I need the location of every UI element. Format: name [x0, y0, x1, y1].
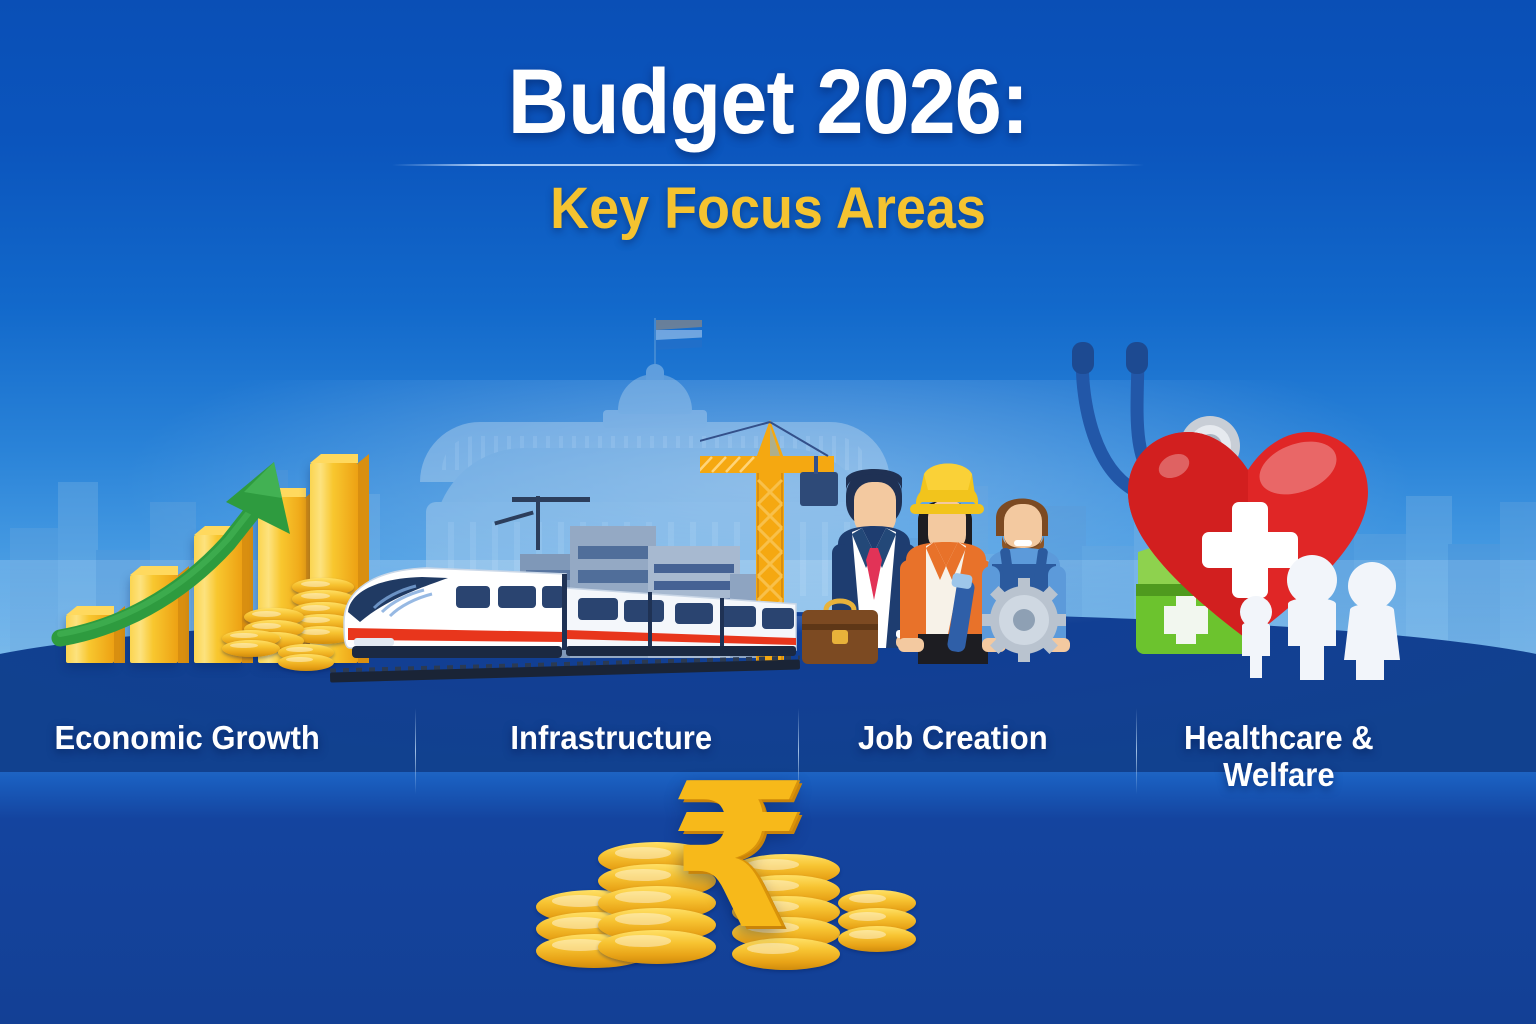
page-subtitle: Key Focus Areas — [54, 180, 1482, 238]
rupee-coins-icon: ₹ — [520, 762, 940, 994]
title-divider — [392, 164, 1144, 166]
budget-poster: Budget 2026: Key Focus Areas — [0, 0, 1536, 1024]
heart-cross-icon — [1060, 340, 1450, 680]
category-label-economic-growth[interactable]: Economic Growth — [54, 720, 319, 757]
page-title: Budget 2026: — [61, 56, 1474, 148]
label-divider — [1136, 708, 1137, 794]
rupee-symbol: ₹ — [668, 758, 807, 958]
category-label-healthcare-welfare[interactable]: Healthcare & Welfare — [1184, 720, 1374, 794]
india-tricolor-flag-icon — [656, 320, 702, 350]
title-block: Budget 2026: Key Focus Areas — [0, 56, 1536, 238]
label-divider — [415, 708, 416, 794]
parliament-dome — [618, 374, 692, 414]
briefcase-icon — [802, 601, 878, 664]
gear-icon — [982, 578, 1066, 662]
high-speed-train-icon — [330, 540, 800, 680]
category-label-job-creation[interactable]: Job Creation — [858, 720, 1048, 757]
woman-engineer-figure — [898, 464, 992, 665]
